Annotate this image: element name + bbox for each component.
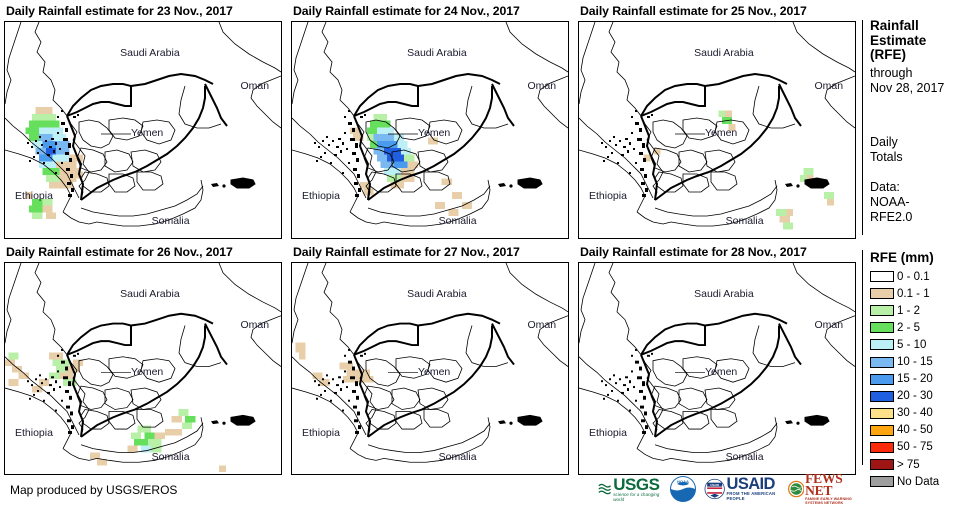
agency-logos: USGS science for a changing world NOAA U…	[598, 472, 860, 506]
noaa-logo[interactable]: NOAA	[669, 474, 697, 504]
panel-4: Daily Rainfall estimate for 27 Nov., 201…	[291, 243, 573, 475]
legend-label: 50 - 75	[897, 441, 933, 453]
legend-label: 30 - 40	[897, 407, 933, 419]
panel-5: Daily Rainfall estimate for 28 Nov., 201…	[578, 243, 860, 475]
usgs-wordmark: USGS	[613, 477, 662, 492]
rfe-data-line2: NOAA-	[870, 195, 967, 210]
legend-row[interactable]: 20 - 30	[870, 388, 967, 405]
legend-label: 2 - 5	[897, 322, 920, 334]
legend-label: 0 - 0.1	[897, 271, 930, 283]
legend-swatch	[870, 442, 894, 453]
fews-globe-icon	[788, 476, 805, 502]
legend-label: 0.1 - 1	[897, 288, 930, 300]
panel-2: Daily Rainfall estimate for 25 Nov., 201…	[578, 2, 860, 240]
map-frame[interactable]: Saudi ArabiaOmanYemenEthiopiaSomalia	[578, 262, 856, 475]
legend-items: 0 - 0.10.1 - 11 - 22 - 55 - 1010 - 1515 …	[870, 268, 967, 490]
map-canvas[interactable]: Saudi ArabiaOmanYemenEthiopiaSomalia	[292, 263, 568, 474]
rfe-through: through Nov 28, 2017	[870, 66, 967, 96]
legend-label: 20 - 30	[897, 390, 933, 402]
legend-row[interactable]: 0.1 - 1	[870, 285, 967, 302]
usaid-tagline: FROM THE AMERICAN PEOPLE	[727, 491, 781, 501]
legend-label: 40 - 50	[897, 424, 933, 436]
legend-label: > 75	[897, 459, 920, 471]
legend-row[interactable]: > 75	[870, 456, 967, 473]
yemen-leader-line	[579, 22, 855, 238]
legend-swatch	[870, 374, 894, 385]
legend-swatch	[870, 425, 894, 436]
legend-label: 15 - 20	[897, 373, 933, 385]
rfe-heading-line2: Estimate	[870, 34, 967, 49]
noaa-seal-icon: NOAA	[669, 475, 697, 503]
panel-0: Daily Rainfall estimate for 23 Nov., 201…	[4, 2, 286, 240]
legend-row[interactable]: 2 - 5	[870, 319, 967, 336]
legend-label: No Data	[897, 476, 939, 488]
panel-title: Daily Rainfall estimate for 27 Nov., 201…	[291, 243, 573, 261]
map-frame[interactable]: Saudi ArabiaOmanYemenEthiopiaSomalia	[4, 21, 282, 239]
panel-3: Daily Rainfall estimate for 26 Nov., 201…	[4, 243, 286, 475]
yemen-leader-line	[5, 263, 281, 474]
map-frame[interactable]: Saudi ArabiaOmanYemenEthiopiaSomalia	[578, 21, 856, 239]
legend-row[interactable]: 30 - 40	[870, 405, 967, 422]
legend-row[interactable]: 50 - 75	[870, 439, 967, 456]
legend-sidebar: Rainfall Estimate (RFE) through Nov 28, …	[862, 0, 967, 511]
rfe-heading-line1: Rainfall	[870, 19, 967, 34]
rfe-through-date: Nov 28, 2017	[870, 81, 967, 96]
map-credit: Map produced by USGS/EROS	[10, 483, 177, 497]
legend-row[interactable]: 40 - 50	[870, 422, 967, 439]
rfe-through-label: through	[870, 66, 967, 81]
legend-swatch	[870, 476, 894, 487]
usgs-tagline: science for a changing world	[613, 492, 662, 502]
fews-wordmark: FEWS NET	[805, 473, 860, 497]
panel-title: Daily Rainfall estimate for 26 Nov., 201…	[4, 243, 286, 261]
rfe-totals: Daily Totals	[870, 135, 967, 165]
map-frame[interactable]: Saudi ArabiaOmanYemenEthiopiaSomalia	[4, 262, 282, 475]
yemen-leader-line	[579, 263, 855, 474]
usaid-seal-icon: USAID	[704, 476, 725, 502]
panel-title: Daily Rainfall estimate for 24 Nov., 201…	[291, 2, 573, 20]
panel-title: Daily Rainfall estimate for 28 Nov., 201…	[578, 243, 860, 261]
legend-swatch	[870, 357, 894, 368]
legend-row[interactable]: No Data	[870, 473, 967, 490]
legend-title: RFE (mm)	[870, 250, 934, 265]
legend-swatch	[870, 339, 894, 350]
legend-swatch	[870, 305, 894, 316]
rfe-heading-line3: (RFE)	[870, 48, 967, 63]
legend-swatch	[870, 408, 894, 419]
sidebar-divider-top	[862, 20, 863, 235]
legend-label: 5 - 10	[897, 339, 926, 351]
map-frame[interactable]: Saudi ArabiaOmanYemenEthiopiaSomalia	[291, 262, 569, 475]
map-canvas[interactable]: Saudi ArabiaOmanYemenEthiopiaSomalia	[579, 22, 855, 238]
rfe-totals-line2: Totals	[870, 150, 967, 165]
legend-row[interactable]: 1 - 2	[870, 302, 967, 319]
fews-net-logo[interactable]: FEWS NET FAMINE EARLY WARNING SYSTEMS NE…	[788, 474, 860, 504]
legend-row[interactable]: 0 - 0.1	[870, 268, 967, 285]
panel-title: Daily Rainfall estimate for 25 Nov., 201…	[578, 2, 860, 20]
legend-swatch	[870, 391, 894, 402]
legend-row[interactable]: 10 - 15	[870, 353, 967, 370]
svg-text:NOAA: NOAA	[677, 479, 689, 484]
map-canvas[interactable]: Saudi ArabiaOmanYemenEthiopiaSomalia	[5, 263, 281, 474]
sidebar-divider-bottom	[862, 250, 863, 465]
usgs-logo[interactable]: USGS science for a changing world	[598, 474, 662, 504]
usaid-logo[interactable]: USAID USAID FROM THE AMERICAN PEOPLE	[704, 474, 780, 504]
yemen-leader-line	[5, 22, 281, 238]
map-canvas[interactable]: Saudi ArabiaOmanYemenEthiopiaSomalia	[579, 263, 855, 474]
rfe-data-source: Data: NOAA- RFE2.0	[870, 180, 967, 225]
legend-row[interactable]: 15 - 20	[870, 371, 967, 388]
legend-label: 1 - 2	[897, 305, 920, 317]
legend-label: 10 - 15	[897, 356, 933, 368]
legend-swatch	[870, 459, 894, 470]
svg-text:USAID: USAID	[710, 483, 719, 487]
legend-swatch	[870, 322, 894, 333]
usgs-wave-icon	[598, 481, 612, 498]
rfe-heading: Rainfall Estimate (RFE)	[870, 19, 967, 63]
fews-tagline: FAMINE EARLY WARNING SYSTEMS NETWORK	[805, 497, 860, 506]
rfe-data-label: Data:	[870, 180, 967, 195]
rfe-data-line3: RFE2.0	[870, 210, 967, 225]
map-canvas[interactable]: Saudi ArabiaOmanYemenEthiopiaSomalia	[292, 22, 568, 238]
rfe-totals-line1: Daily	[870, 135, 967, 150]
legend-swatch	[870, 271, 894, 282]
legend-row[interactable]: 5 - 10	[870, 336, 967, 353]
yemen-leader-line	[292, 263, 568, 474]
map-canvas[interactable]: Saudi ArabiaOmanYemenEthiopiaSomalia	[5, 22, 281, 238]
map-frame[interactable]: Saudi ArabiaOmanYemenEthiopiaSomalia	[291, 21, 569, 239]
yemen-leader-line	[292, 22, 568, 238]
panel-title: Daily Rainfall estimate for 23 Nov., 201…	[4, 2, 286, 20]
panel-1: Daily Rainfall estimate for 24 Nov., 201…	[291, 2, 573, 240]
usaid-wordmark: USAID	[727, 477, 781, 491]
legend-swatch	[870, 288, 894, 299]
